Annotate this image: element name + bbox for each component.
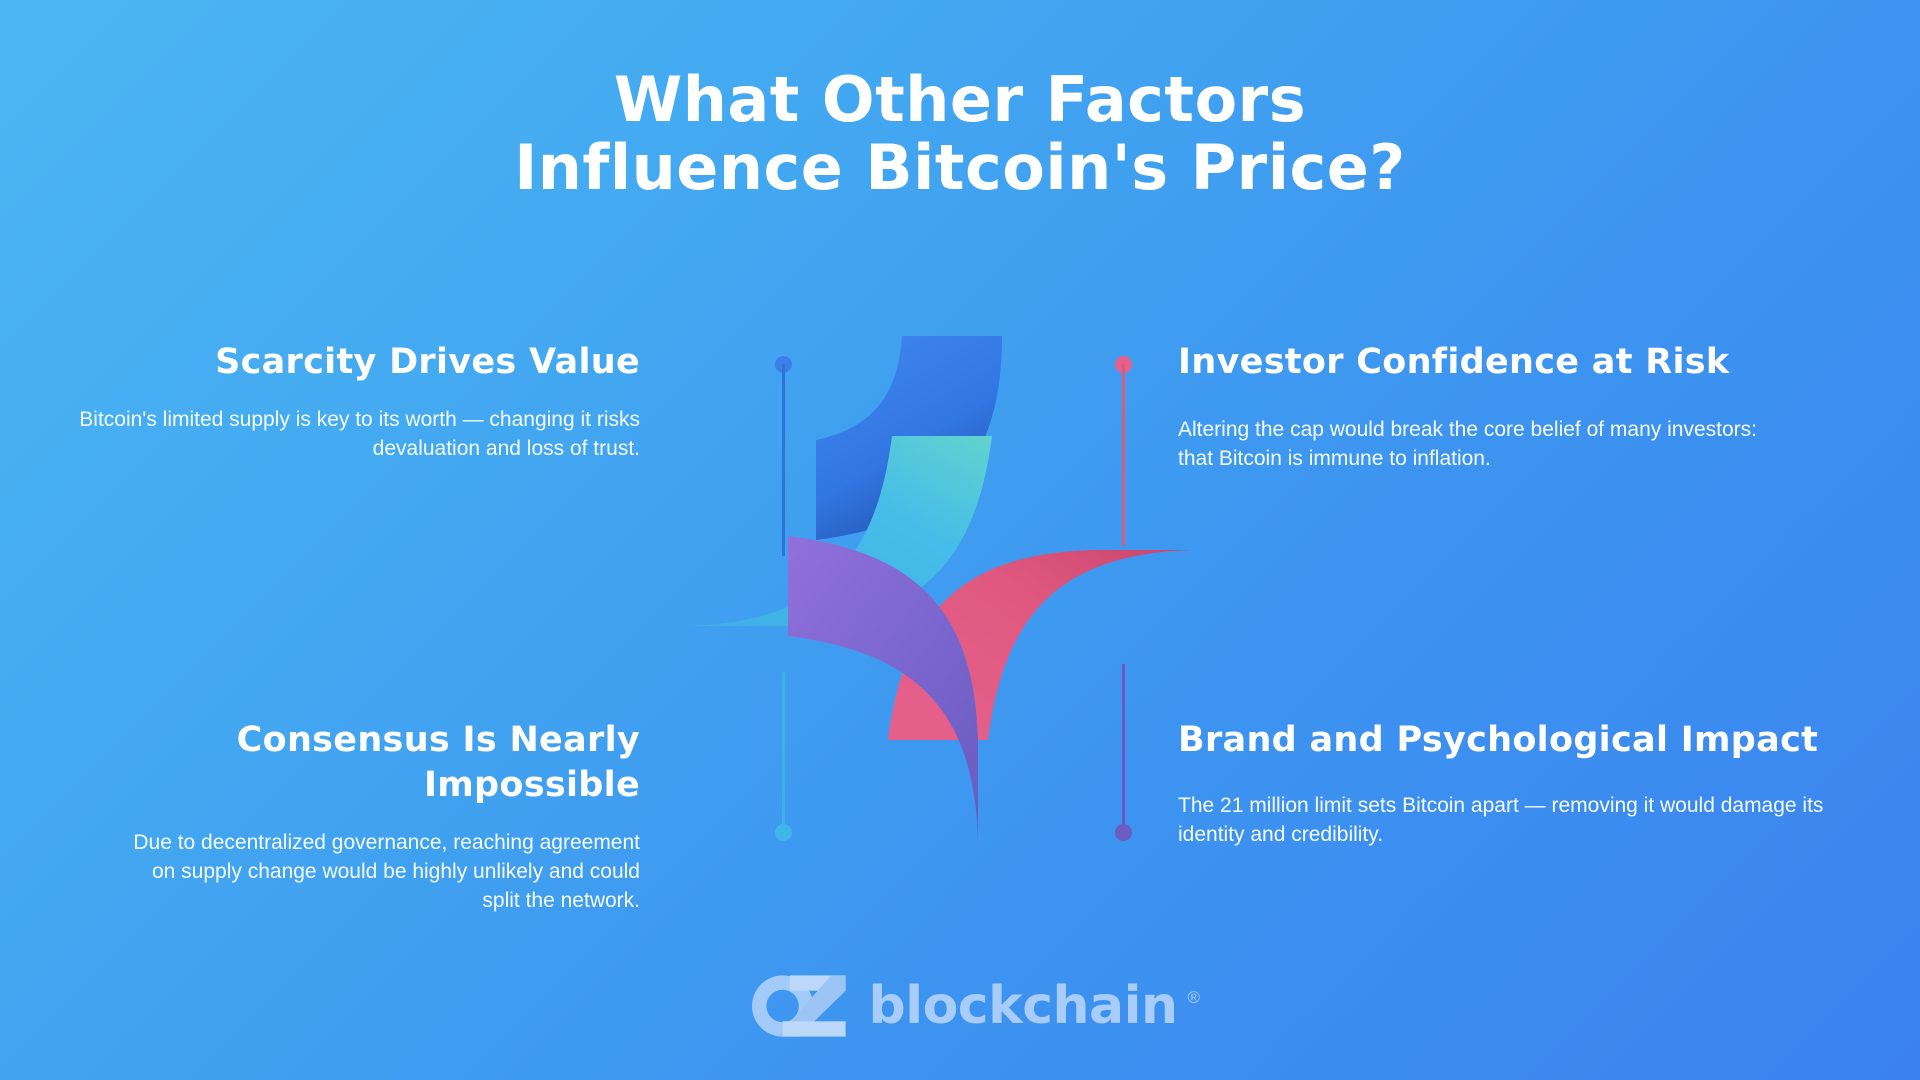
connector-dot-bottom-right — [1115, 824, 1132, 841]
factor-heading: Investor Confidence at Risk — [1178, 340, 1778, 385]
infographic-canvas: What Other Factors Influence Bitcoin's P… — [0, 0, 1920, 1080]
factor-heading: Scarcity Drives Value — [60, 340, 640, 385]
four-point-sparkle-graphic — [640, 288, 1240, 888]
logo-wordmark-text: blockchain — [869, 976, 1178, 1036]
factor-heading: Consensus Is Nearly Impossible — [120, 718, 640, 808]
brand-logo: blockchain ® — [0, 968, 1920, 1044]
title-line-1: What Other Factors — [0, 66, 1920, 134]
factor-card-brand-and-psychological-impact: Brand and Psychological Impact The 21 mi… — [1178, 718, 1848, 849]
page-title: What Other Factors Influence Bitcoin's P… — [0, 66, 1920, 202]
factor-body: Due to decentralized governance, reachin… — [120, 828, 640, 915]
factor-card-scarcity-drives-value: Scarcity Drives Value Bitcoin's limited … — [60, 340, 640, 463]
connector-line-top-right — [1122, 364, 1125, 546]
connector-line-bottom-right — [1122, 664, 1125, 832]
title-line-2: Influence Bitcoin's Price? — [0, 134, 1920, 202]
factor-body: Bitcoin's limited supply is key to its w… — [60, 405, 640, 463]
factor-body: Altering the cap would break the core be… — [1178, 415, 1778, 473]
registered-trademark-icon: ® — [1187, 970, 1199, 1026]
ez-monogram-icon — [743, 968, 851, 1044]
logo-wordmark: blockchain ® — [869, 978, 1178, 1034]
connector-dot-bottom-left — [775, 824, 792, 841]
factor-heading: Brand and Psychological Impact — [1178, 718, 1848, 763]
factor-body: The 21 million limit sets Bitcoin apart … — [1178, 791, 1848, 849]
factor-card-consensus-is-nearly-impossible: Consensus Is Nearly Impossible Due to de… — [120, 718, 640, 915]
sparkle-bottom-petal — [788, 536, 978, 840]
factor-card-investor-confidence-at-risk: Investor Confidence at Risk Altering the… — [1178, 340, 1778, 473]
connector-line-top-left — [782, 364, 785, 556]
connector-line-bottom-left — [782, 672, 785, 832]
